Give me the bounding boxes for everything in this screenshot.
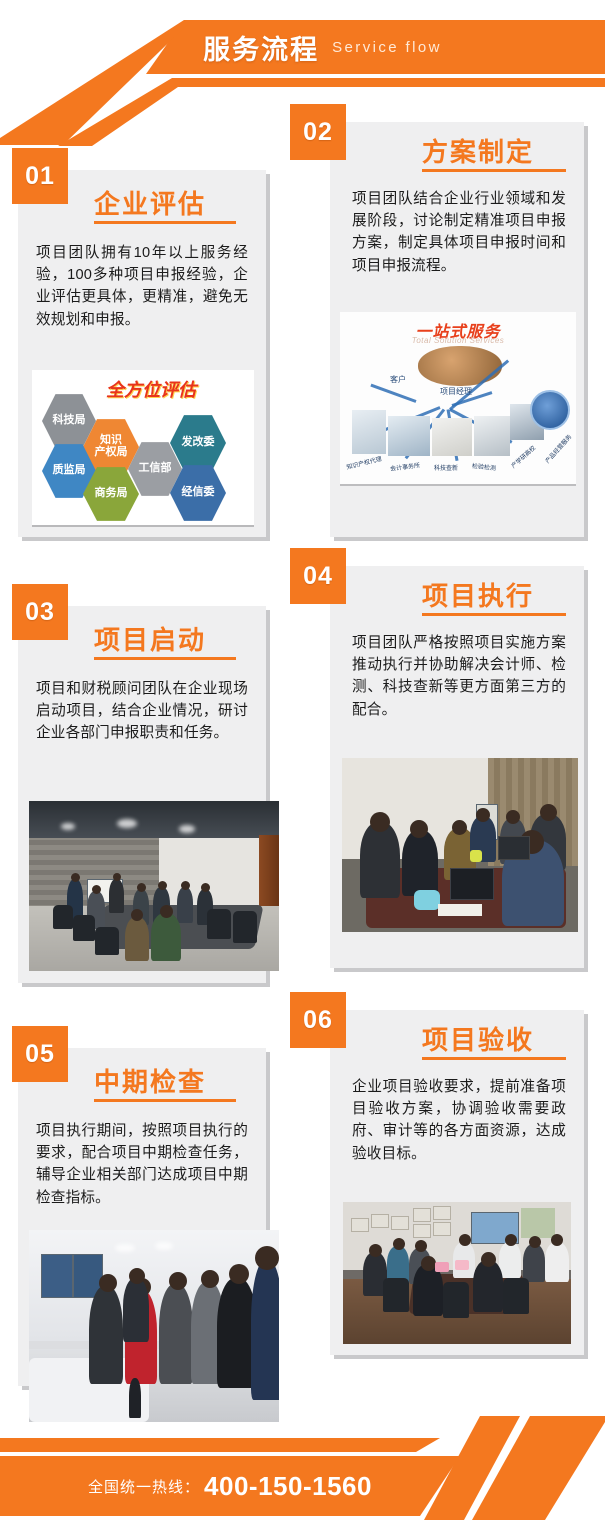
service-flow-infographic: 服务流程 Service flow 企业评估 项目团队拥有10年以上服务经验，1… [0,0,605,1538]
photo-worker-2 [402,830,438,896]
photo-papers [438,904,482,916]
step-badge-03: 03 [12,584,68,640]
photo-head-4 [137,883,146,892]
photo-display-1 [41,1254,73,1298]
hotline-number[interactable]: 400-150-1560 [204,1471,372,1502]
photo-spotlight-2 [155,1242,173,1250]
one-stop-label-search: 科技查新 [434,463,458,472]
card-body-02: 项目团队结合企业行业领域和发展阶段，讨论制定精准项目申报方案，制定具体项目申报时… [352,188,566,277]
tile-ip-agency [352,410,386,454]
step-card-02: 方案制定 项目团队结合企业行业领域和发展阶段，讨论制定精准项目申报方案，制定具体… [330,122,584,537]
card-title-rule-01 [94,221,236,224]
step-card-05: 中期检查 项目执行期间，按照项目执行的要求，配合项目中期检查任务，辅导企业相关部… [18,1048,266,1386]
photo-person-green-jacket [151,913,181,961]
one-stop-label-accounting: 会计事务所 [390,460,421,473]
photo-attendee-7 [545,1242,569,1282]
photo-visitor-blue [251,1260,279,1400]
card-title-01: 企业评估 [94,184,206,221]
photo-head-tan [131,909,143,921]
arrow-to-customer [370,384,416,403]
tile-novelty-search [432,418,472,456]
step-badge-02: 02 [290,104,346,160]
conference-room-kickoff-photo [29,801,279,971]
photo-attendee-head-1 [369,1244,382,1257]
photo-wall-cert-4 [413,1208,431,1222]
photo-visitor-head-3 [169,1272,187,1290]
tile-certification-seal [530,390,570,430]
onsite-inspection-photo [29,1230,279,1422]
card-title-rule-05 [94,1099,236,1102]
photo-wall-cert-5 [433,1206,451,1220]
photo-worker-head-6 [540,804,557,821]
photo-visitor-head-4 [201,1270,219,1288]
card-body-04: 项目团队严格按照项目实施方案推动执行并协助解决会计师、检测、科技查新等更方面第三… [352,632,566,721]
photo-head-2 [92,885,101,894]
one-stop-label-manager: 项目经理 [440,386,472,397]
card-body-06: 企业项目验收要求，提前准备项目验收方案，协调验收需要政府、审计等的各方面资源，达… [352,1076,566,1165]
photo-wall-cert-3 [391,1216,409,1230]
card-title-02: 方案制定 [422,132,534,169]
card-title-04: 项目执行 [422,576,534,613]
page-footer: 全国统一热线： 400-150-1560 [0,1400,605,1538]
photo-head-3 [113,873,121,881]
ceiling-light-1 [61,823,75,830]
tile-inspection [474,416,510,456]
card-title-rule-03 [94,657,236,660]
step-badge-06: 06 [290,992,346,1048]
photo-wood-panel [259,835,279,913]
step-card-04: 项目执行 项目团队严格按照项目实施方案推动执行并协助解决会计师、检测、科技查新等… [330,566,584,968]
photo-visitor-head-1 [99,1274,117,1292]
photo-blue-bag [414,890,440,910]
hex-node-grid: 科技局 知识 产权局 质监局 商务局 工信部 发改委 经信委 [32,370,254,525]
photo-worker-head-3 [452,820,467,835]
photo-visitor-head-2 [129,1268,145,1284]
ceiling-light-3 [179,825,195,833]
card-title-05: 中期检查 [94,1062,206,1099]
photo-acc-chair-2 [443,1282,469,1318]
step-badge-01: 01 [12,148,68,204]
photo-attendee-head-7 [551,1234,563,1246]
photo-ceiling [29,801,279,838]
one-stop-center-photo [418,346,502,386]
photo-attendee-6 [523,1244,545,1282]
photo-visitor-head-5 [229,1264,249,1284]
photo-person-6 [177,887,193,923]
photo-visitor-head-6 [255,1246,279,1270]
card-title-rule-06 [422,1057,566,1060]
photo-worker-head-5 [506,810,520,824]
page-title: 服务流程 [203,28,319,67]
photo-wall-cert-7 [433,1222,451,1236]
photo-attendee-front-2 [473,1260,503,1312]
photo-head-1 [71,873,80,882]
photo-wall-cert-6 [413,1224,431,1238]
photo-wall-cert-2 [371,1214,389,1228]
hotline-label: 全国统一热线： [88,1476,200,1497]
photo-chair-4 [207,909,231,939]
step-card-03: 项目启动 项目和财税顾问团队在企业现场启动项目，结合企业情况，研讨企业各部门申报… [18,606,266,983]
photo-visitor-3 [159,1284,193,1384]
card-body-03: 项目和财税顾问团队在企业现场启动项目，结合企业情况，研讨企业各部门申报职责和任务… [36,678,248,745]
photo-attendee-head-6 [529,1236,541,1248]
photo-head-7 [201,883,210,892]
photo-head-green [160,905,173,918]
photo-head-5 [158,881,167,890]
photo-acc-chair-3 [503,1278,529,1314]
step-card-01: 企业评估 项目团队拥有10年以上服务经验，100多种项目申报经验，企业评估更具体… [18,170,266,537]
step-card-06: 项目验收 企业项目验收要求，提前准备项目验收方案，协调验收需要政府、审计等的各方… [330,1010,584,1355]
photo-person-3 [109,879,124,913]
tile-accounting [388,416,430,456]
photo-wall-cert-1 [351,1218,369,1232]
photo-attendee-head-3 [415,1240,427,1252]
photo-attendee-head-5 [505,1234,517,1246]
step-badge-05: 05 [12,1026,68,1082]
one-stop-subtitle: Total Solution Services [340,336,576,345]
photo-person-tan [125,917,149,961]
ceiling-light-2 [117,819,137,828]
one-stop-label-product: 产品经营服务 [543,432,574,465]
photo-worker-1 [360,822,400,898]
photo-wall-panel [521,1208,555,1238]
photo-worker-head-1 [370,812,390,832]
card-title-03: 项目启动 [94,620,206,657]
one-stop-label-inspection: 检验检测 [472,461,497,472]
photo-chair-1 [53,905,73,929]
photo-chair-3 [95,927,119,955]
photo-flower-1 [435,1262,449,1272]
team-working-meeting-photo [342,758,578,932]
photo-attendee-head-4 [459,1234,471,1246]
acceptance-meeting-photo [343,1202,571,1344]
photo-visitor-1 [89,1286,123,1384]
card-title-rule-04 [422,613,566,616]
photo-laptop-2 [498,836,530,860]
photo-acc-chair-1 [383,1278,409,1312]
photo-attendee-5 [499,1242,521,1278]
header-title-group: 服务流程 Service flow [0,20,605,74]
photo-yellow-item [470,850,482,862]
card-title-rule-02 [422,169,566,172]
hotline-group: 全国统一热线： 400-150-1560 [0,1456,460,1516]
card-body-05: 项目执行期间，按照项目执行的要求，配合项目中期检查任务，辅导企业相关部门达成项目… [36,1120,248,1209]
one-stop-service-diagram: 一站式服务 Total Solution Services 客户 项目经理 知识… [340,312,576,484]
photo-head-6 [181,881,190,890]
photo-chair-2 [73,915,95,941]
photo-spotlight-1 [115,1244,135,1252]
step-badge-04: 04 [290,548,346,604]
photo-attendee-head-front-2 [481,1252,496,1267]
photo-laptop-1 [450,868,494,900]
one-stop-label-university: 产学研高校 [509,443,537,470]
photo-worker-head-2 [410,820,428,838]
photo-visitor-2 [123,1278,149,1342]
photo-attendee-head-front-1 [421,1256,436,1271]
one-stop-label-customer: 客户 [390,374,406,385]
card-body-01: 项目团队拥有10年以上服务经验，100多种项目申报经验，企业评估更具体，更精准，… [36,242,248,331]
card-title-06: 项目验收 [422,1020,534,1057]
page-subtitle: Service flow [332,39,442,56]
photo-chair-5 [233,911,257,943]
photo-worker-head-4 [476,808,490,822]
photo-flower-2 [455,1260,469,1270]
photo-attendee-head-2 [393,1238,405,1250]
one-stop-label-ip: 知识产权代理 [345,454,382,471]
hexagon-assessment-chart: 全方位评估 科技局 知识 产权局 质监局 商务局 工信部 发改委 经信委 [32,370,254,525]
